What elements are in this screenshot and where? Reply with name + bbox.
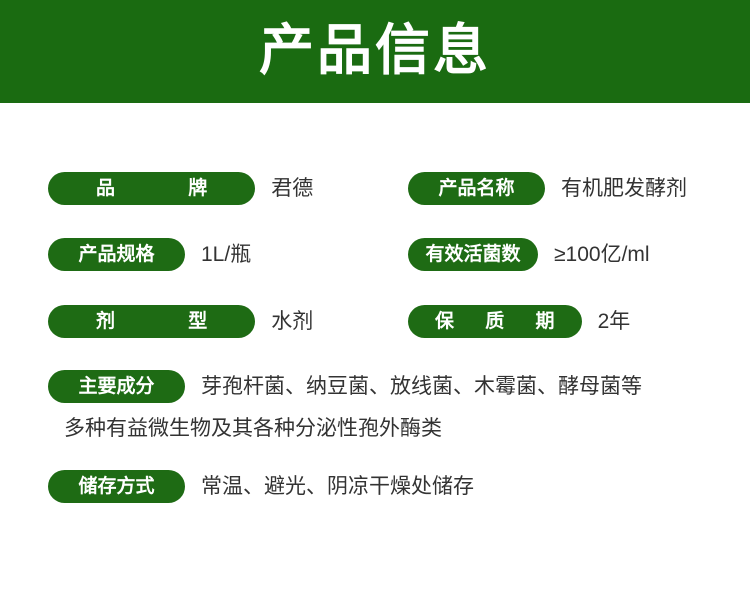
spec-value-storage: 常温、避光、阴凉干燥处储存 [201, 476, 474, 497]
spec-label-shelf-life: 保 质 期 [408, 305, 582, 338]
product-spec-body: 品 牌 君德 产品名称 有机肥发酵剂 产品规格 1L/瓶 有效活菌数 ≥100亿… [0, 103, 750, 598]
spec-value-brand: 君德 [271, 178, 313, 199]
spec-label-main-ingredients: 主要成分 [48, 370, 185, 403]
spec-value-specification: 1L/瓶 [201, 244, 251, 265]
spec-value-shelf-life: 2年 [598, 311, 631, 332]
spec-label-product-name: 产品名称 [408, 172, 545, 205]
spec-label-specification: 产品规格 [48, 238, 185, 271]
spec-label-viable-count: 有效活菌数 [408, 238, 538, 271]
spec-value-main-ingredients-line1: 芽孢杆菌、纳豆菌、放线菌、木霉菌、酵母菌等 [201, 376, 642, 397]
spec-row-formulation: 剂 型 水剂 [48, 305, 313, 338]
spec-value-viable-count: ≥100亿/ml [554, 244, 650, 265]
spec-row-specification: 产品规格 1L/瓶 [48, 238, 251, 271]
spec-label-brand: 品 牌 [48, 172, 255, 205]
spec-value-product-name: 有机肥发酵剂 [561, 178, 687, 199]
spec-value-formulation: 水剂 [271, 311, 313, 332]
spec-value-main-ingredients-line2: 多种有益微生物及其各种分泌性孢外酶类 [64, 418, 442, 439]
page-header-banner: 产品信息 [0, 0, 750, 103]
spec-row-storage: 储存方式 常温、避光、阴凉干燥处储存 [48, 470, 474, 503]
spec-row-main-ingredients: 主要成分 芽孢杆菌、纳豆菌、放线菌、木霉菌、酵母菌等 [48, 370, 642, 403]
page-title: 产品信息 [259, 23, 491, 80]
spec-row-shelf-life: 保 质 期 2年 [408, 305, 630, 338]
spec-label-storage: 储存方式 [48, 470, 185, 503]
spec-row-brand: 品 牌 君德 [48, 172, 313, 205]
spec-row-product-name: 产品名称 有机肥发酵剂 [408, 172, 687, 205]
spec-label-formulation: 剂 型 [48, 305, 255, 338]
spec-row-viable-count: 有效活菌数 ≥100亿/ml [408, 238, 650, 271]
